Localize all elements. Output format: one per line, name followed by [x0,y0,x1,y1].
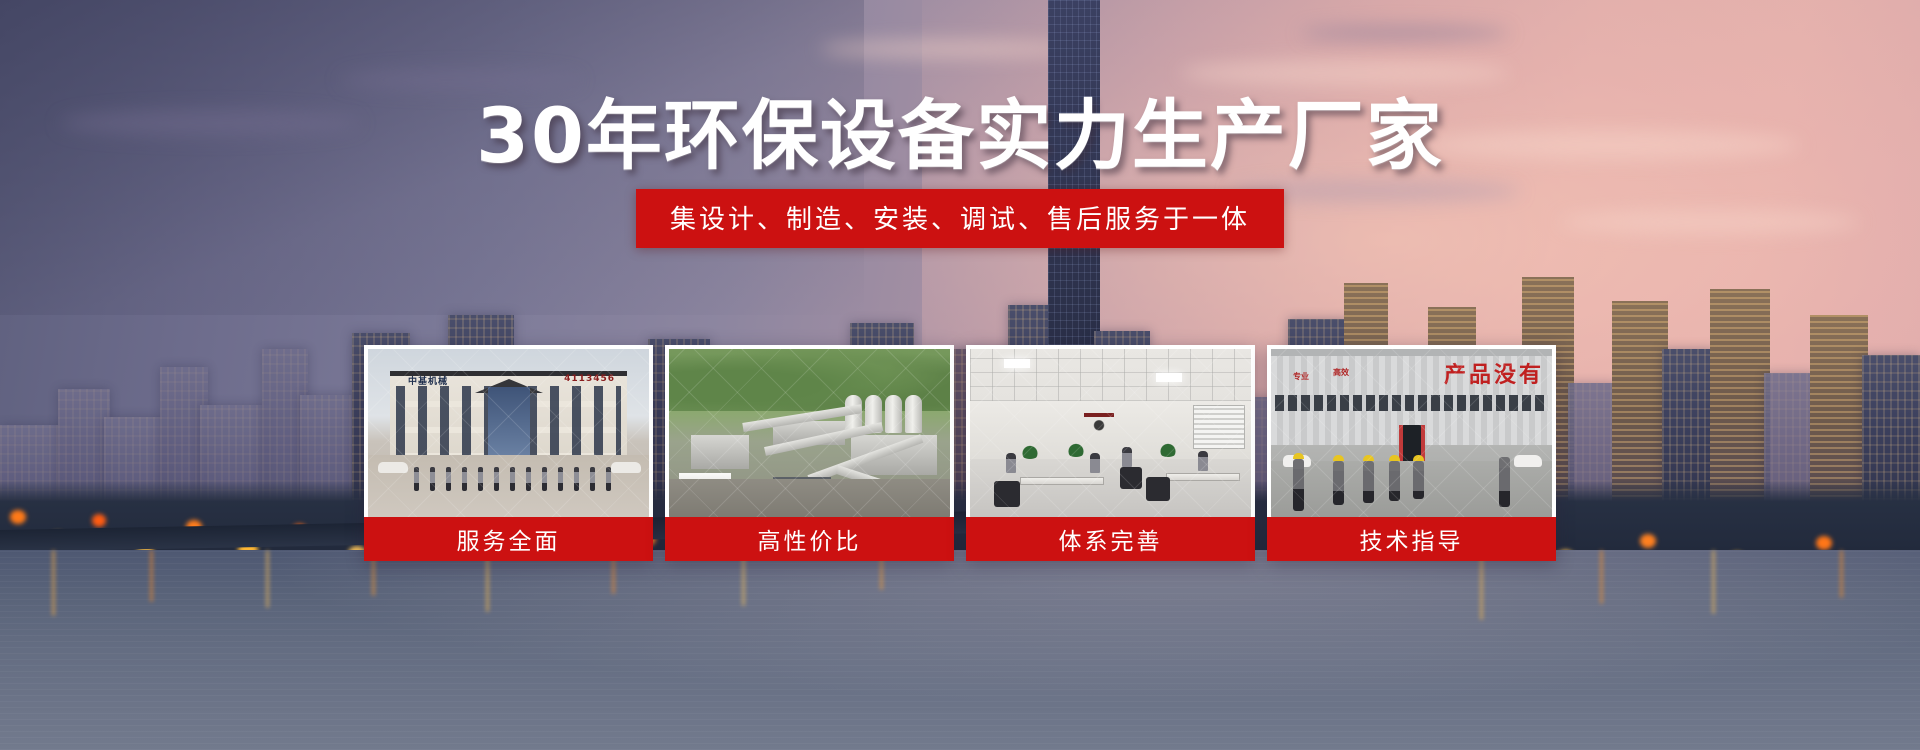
safety-helmet [1293,453,1304,459]
factory-window-row [1275,395,1548,411]
feature-card[interactable]: 体系完善 [966,345,1255,561]
worker [1363,461,1374,503]
staff-person [510,467,515,491]
feature-card[interactable]: 中基机械 4113456 [364,345,653,561]
factory-slogan-large: 产品没有 [1444,357,1544,389]
worker [1389,461,1400,501]
staff-person [606,467,611,491]
feature-card[interactable]: 产品没有 专业 高效 [1267,345,1556,561]
glass-entrance [488,387,530,465]
parked-car [378,462,408,473]
parked-car [1514,455,1542,467]
factory-slogan-small: 高效 [1333,367,1349,378]
facade-top-edge [1271,349,1552,356]
office-desk [1020,477,1104,485]
company-headquarters-building-photo: 中基机械 4113456 [368,349,649,517]
safety-helmet [1389,455,1400,461]
staff-person [574,467,579,491]
office-interior-staff-photo [970,349,1251,517]
supervisor [1499,457,1510,507]
staff-person [558,467,563,491]
office-chair [1146,477,1170,501]
storage-silo [885,395,902,433]
staff-person [414,467,419,491]
building-sign-text: 中基机械 [408,374,448,387]
office-staff [1122,447,1132,467]
potted-plant [1066,443,1086,457]
factory-workers-briefing-photo: 产品没有 专业 高效 [1271,349,1552,517]
hero-content: 30年环保设备实力生产厂家 集设计、制造、安装、调试、售后服务于一体 中基机械 … [0,0,1920,750]
office-staff [1090,453,1100,473]
plant-yard [669,479,950,517]
feature-card-caption: 技术指导 [1267,517,1556,561]
wall-logo [1078,411,1120,437]
worker [1333,461,1344,505]
worker [1413,461,1424,499]
safety-helmet [1333,455,1344,461]
ceiling-light [1004,359,1030,368]
factory-slogan-small: 专业 [1293,371,1309,382]
feature-card[interactable]: 高性价比 [665,345,954,561]
staff-person [446,467,451,491]
staff-person [430,467,435,491]
office-chair [994,481,1020,507]
feature-card-list: 中基机械 4113456 [364,345,1556,561]
office-staff [1198,451,1208,471]
hero-subtitle-banner: 集设计、制造、安装、调试、售后服务于一体 [636,189,1284,248]
staff-person [478,467,483,491]
feature-card-caption: 高性价比 [665,517,954,561]
aerial-production-plant-photo [669,349,950,517]
window-blinds [1193,405,1245,449]
hero-banner: 30年环保设备实力生产厂家 集设计、制造、安装、调试、售后服务于一体 中基机械 … [0,0,1920,750]
safety-helmet [1413,455,1424,461]
ceiling-light [1156,373,1182,382]
safety-helmet [1363,455,1374,461]
parked-car [611,462,641,473]
feature-card-caption: 体系完善 [966,517,1255,561]
building-phone-text: 4113456 [564,374,615,384]
staff-person [542,467,547,491]
ceiling-grid [970,349,1251,401]
potted-plant [1020,445,1040,459]
office-staff [1006,453,1016,473]
worker [1293,459,1304,511]
plant-warehouse [691,435,749,469]
hero-headline: 30年环保设备实力生产厂家 [0,98,1920,174]
potted-plant [1158,443,1178,457]
staff-person [462,467,467,491]
staff-person [494,467,499,491]
office-chair [1120,467,1142,489]
office-desk [1166,473,1240,481]
storage-silo [905,395,922,433]
staff-person [590,467,595,491]
feature-card-caption: 服务全面 [364,517,653,561]
staff-person [526,467,531,491]
